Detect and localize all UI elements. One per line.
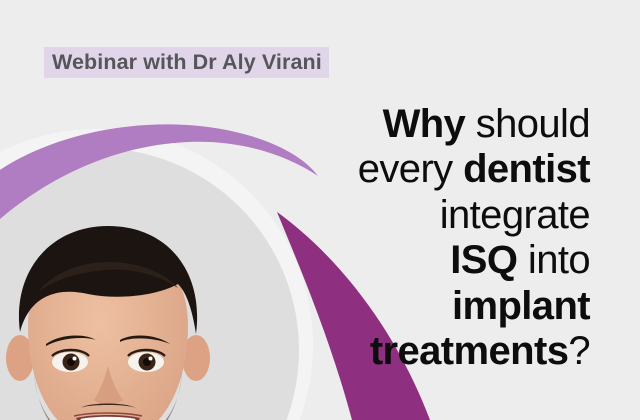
headline-word-implant: implant <box>452 284 590 328</box>
headline-line-4: ISQ into <box>280 238 590 283</box>
headline-line-6: treatments? <box>280 329 590 374</box>
headline: Why should every dentist integrate ISQ i… <box>280 102 590 374</box>
headline-word-dentist: dentist <box>463 147 590 191</box>
eye-glint-right <box>149 357 153 361</box>
speaker-portrait <box>0 176 272 420</box>
headline-word-why: Why <box>383 102 466 146</box>
headline-line-2: every dentist <box>280 147 590 192</box>
headline-word-treatments: treatments <box>370 329 569 373</box>
headline-word-should: should <box>465 102 590 146</box>
webinar-eyebrow-label: Webinar with Dr Aly Virani <box>52 52 322 74</box>
headline-line-3: integrate <box>280 193 590 238</box>
headline-question-mark: ? <box>568 329 590 373</box>
headline-word-isq: ISQ <box>450 238 517 282</box>
headline-word-integrate: integrate <box>440 193 590 237</box>
headline-line-5: implant <box>280 284 590 329</box>
portrait-figure <box>0 226 216 420</box>
eye-glint-left <box>73 357 77 361</box>
webinar-promo-poster: Webinar with Dr Aly Virani Why should ev… <box>0 0 640 420</box>
webinar-eyebrow-banner: Webinar with Dr Aly Virani <box>44 47 329 78</box>
headline-word-every: every <box>358 147 463 191</box>
headline-word-into: into <box>517 238 590 282</box>
portrait-illustration <box>0 176 272 420</box>
headline-line-1: Why should <box>280 102 590 147</box>
